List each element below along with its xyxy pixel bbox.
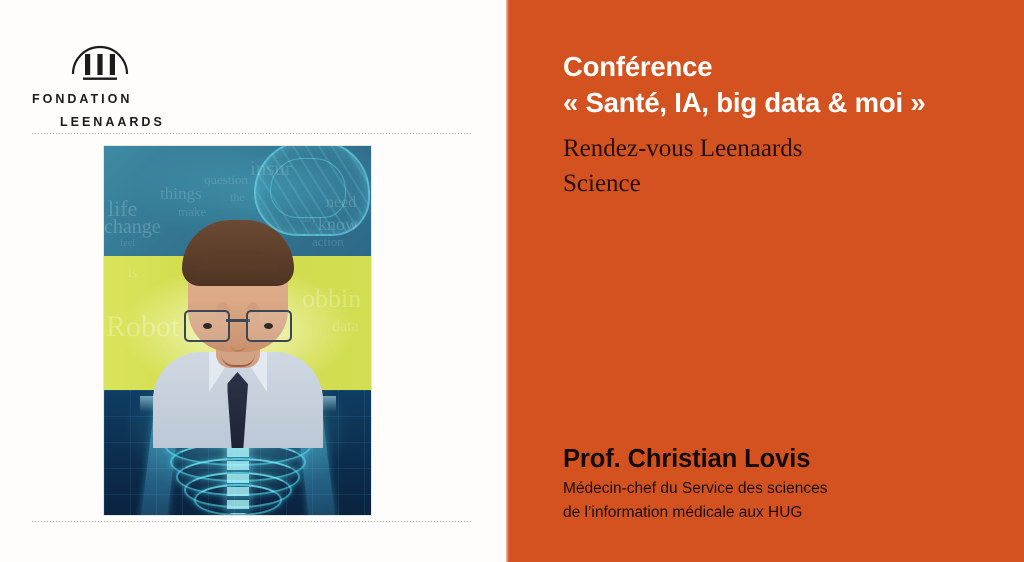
eyeglasses-icon — [184, 310, 292, 338]
logo-word-leenaards: LEENAARDS — [32, 114, 182, 130]
word-cloud-word: feel — [120, 238, 135, 249]
conference-title: Conférence « Santé, IA, big data & moi » — [563, 49, 1008, 121]
subtitle-line-2: Science — [563, 166, 1008, 201]
divider-top — [32, 133, 472, 134]
word-cloud-word: need — [326, 194, 356, 212]
event-series-subtitle: Rendez-vous Leenaards Science — [563, 131, 1008, 201]
lens-right — [246, 310, 292, 342]
left-panel: FONDATION LEENAARDS lifechangethingsmake… — [0, 0, 506, 562]
foundation-logo: FONDATION LEENAARDS — [32, 40, 182, 130]
subtitle-line-1: Rendez-vous Leenaards — [563, 131, 1008, 166]
conference-slide: FONDATION LEENAARDS lifechangethingsmake… — [0, 0, 1024, 562]
logo-word-fondation: FONDATION — [32, 91, 182, 107]
speaker-portrait-image: lifechangethingsmakequestionneedknowacti… — [104, 146, 371, 515]
word-cloud-word: is — [128, 266, 137, 282]
panel-edge-highlight — [506, 0, 509, 562]
word-cloud-word: insur — [250, 156, 292, 181]
word-cloud-word: things — [160, 184, 202, 204]
eye-right — [264, 323, 273, 329]
right-orange-panel: Conférence « Santé, IA, big data & moi »… — [506, 0, 1024, 562]
lens-left — [184, 310, 230, 342]
word-cloud-word: question — [204, 172, 248, 188]
speaker-credit: Prof. Christian Lovis Médecin-chef du Se… — [563, 444, 1008, 523]
word-cloud-word: data — [332, 318, 359, 336]
title-line-2: « Santé, IA, big data & moi » — [563, 85, 1008, 121]
word-cloud-word: know — [318, 214, 358, 235]
speaker-role-line-1: Médecin-chef du Service des sciences — [563, 479, 1008, 499]
portrait-figure — [153, 202, 323, 448]
eye-left — [203, 323, 212, 329]
hair — [182, 220, 294, 286]
arch-columns-icon — [69, 40, 131, 84]
speaker-name: Prof. Christian Lovis — [563, 444, 1008, 475]
divider-bottom — [32, 521, 472, 522]
title-line-1: Conférence — [563, 49, 1008, 85]
speaker-role-line-2: de l’information médicale aux HUG — [563, 503, 1008, 523]
